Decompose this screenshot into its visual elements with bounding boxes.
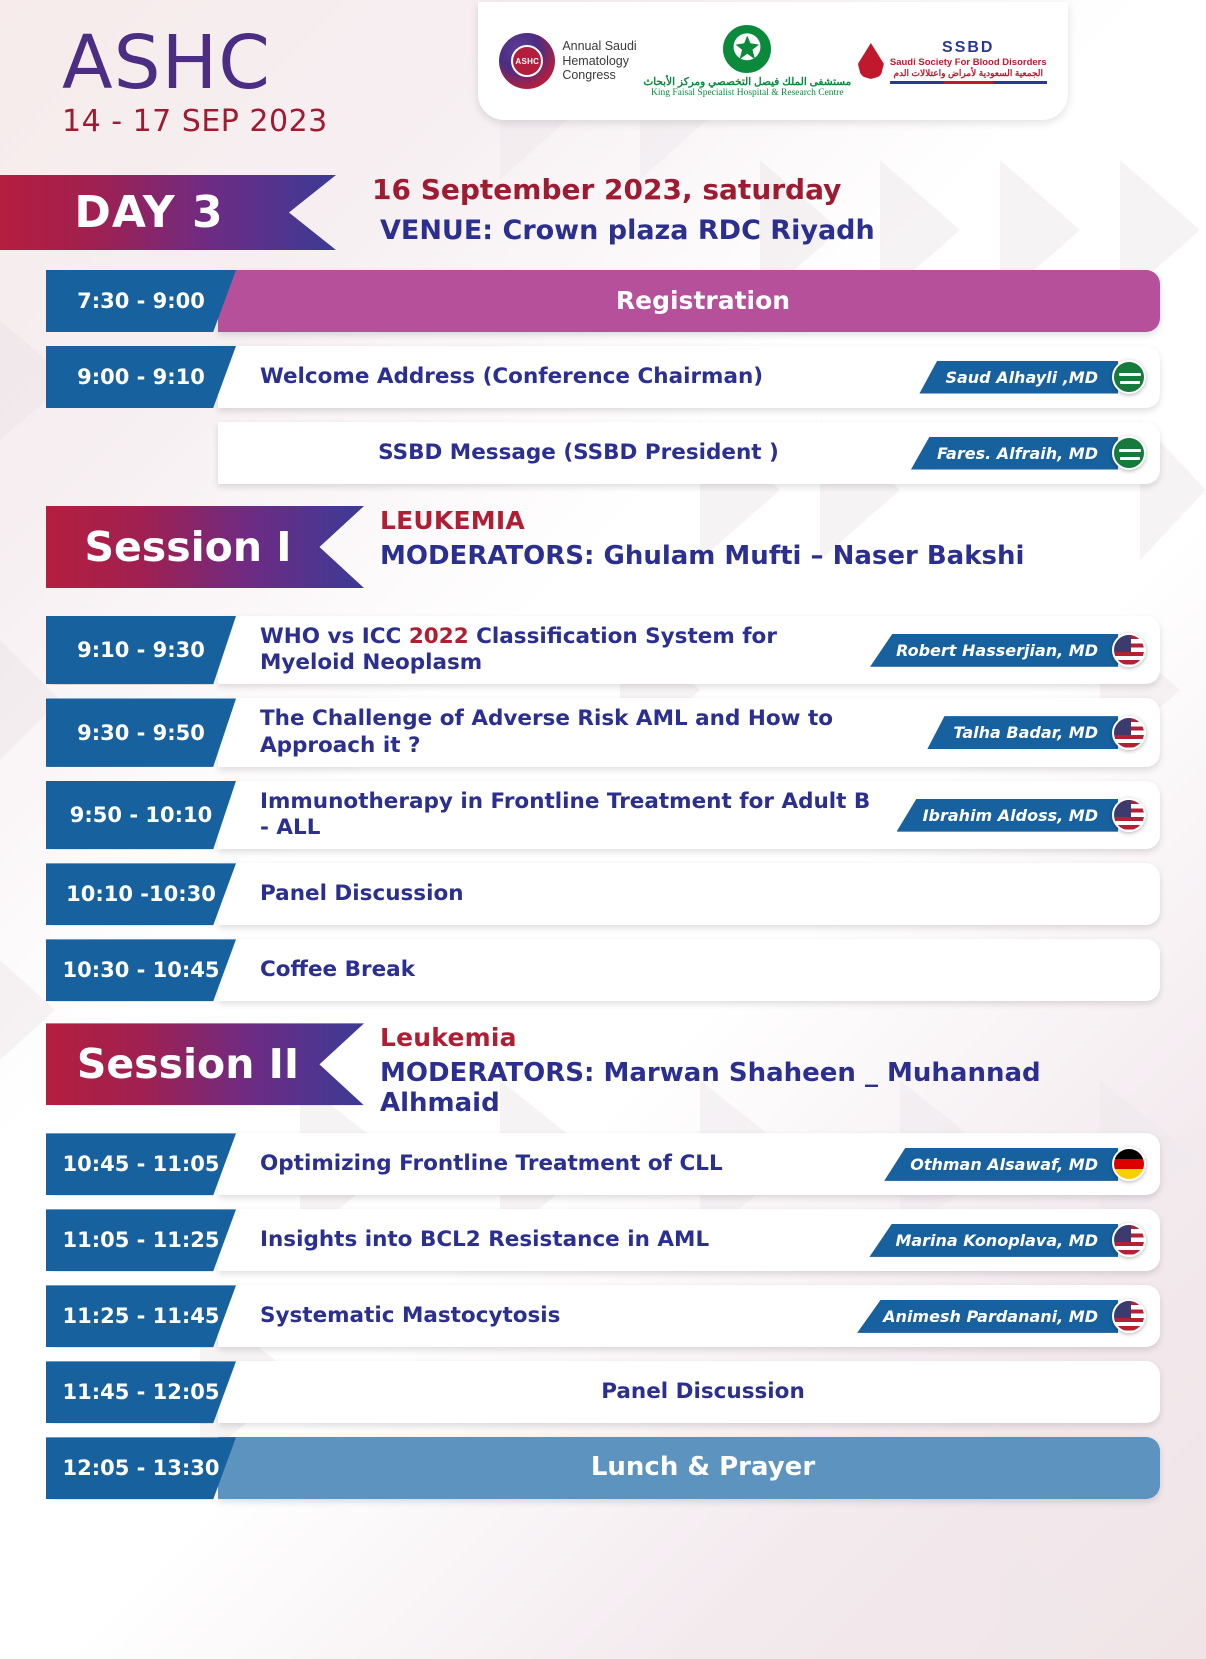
agenda-row-body: WHO vs ICC 2022 Classification System fo…: [218, 616, 1160, 684]
session-label: Session I: [84, 523, 325, 571]
session-banner: Session I: [46, 506, 364, 588]
agenda-row-time: 11:05 - 11:25: [46, 1209, 236, 1271]
ashc-logo: ASHC Annual SaudiHematologyCongress: [499, 33, 636, 89]
agenda-row-title: Immunotherapy in Frontline Treatment for…: [260, 789, 883, 841]
usa-flag: [1112, 716, 1146, 750]
agenda-row: 9:30 - 9:50The Challenge of Adverse Risk…: [46, 698, 1160, 766]
title-highlight-year: 2022: [409, 624, 469, 649]
agenda-row-title: SSBD Message (SSBD President ): [260, 440, 897, 466]
ssbd-logo-acronym: SSBD: [890, 39, 1047, 57]
agenda-row-title: Optimizing Frontline Treatment of CLL: [260, 1151, 870, 1177]
agenda-body: 7:30 - 9:00Registration9:00 - 9:10Welcom…: [0, 270, 1206, 1499]
speaker-badge: Saud Alhayli ,MD: [919, 360, 1146, 394]
blood-drop-icon: [858, 43, 884, 79]
speaker-badge: Animesh Pardanani, MD: [857, 1299, 1146, 1333]
agenda-row-body: Optimizing Frontline Treatment of CLLOth…: [218, 1133, 1160, 1195]
speaker-badge: Talha Badar, MD: [927, 716, 1146, 750]
agenda-row-body: Registration: [218, 270, 1160, 332]
agenda-row: 11:05 - 11:25Insights into BCL2 Resistan…: [46, 1209, 1160, 1271]
agenda-row-body: Welcome Address (Conference Chairman)Sau…: [218, 346, 1160, 408]
agenda-row: 10:30 - 10:45Coffee Break: [46, 939, 1160, 1001]
agenda-row-body: Lunch & Prayer: [218, 1437, 1160, 1499]
usa-flag: [1112, 798, 1146, 832]
day-venue: VENUE: Crown plaza RDC Riyadh: [372, 215, 875, 246]
agenda-row-time: 10:45 - 11:05: [46, 1133, 236, 1195]
day-label: DAY 3: [74, 187, 261, 238]
speaker-name: Marina Konoplava, MD: [869, 1224, 1118, 1257]
speaker-badge: Robert Hasserjian, MD: [870, 633, 1146, 667]
usa-flag: [1112, 633, 1146, 667]
session-topic: Leukemia: [380, 1023, 1160, 1052]
germany-flag: [1112, 1147, 1146, 1181]
title-text-part: WHO vs ICC: [260, 624, 409, 649]
agenda-row-title: Systematic Mastocytosis: [260, 1303, 843, 1329]
agenda-row-title: Registration: [260, 286, 1146, 317]
ssbd-logo-text: SSBD Saudi Society For Blood Disorders ا…: [890, 39, 1047, 84]
session-header: Session ILEUKEMIAMODERATORS: Ghulam Muft…: [46, 498, 1160, 602]
speaker-badge: Othman Alsawaf, MD: [884, 1147, 1146, 1181]
day-banner: DAY 3: [0, 175, 336, 250]
agenda-row-title: Panel Discussion: [260, 881, 1146, 907]
speaker-name: Talha Badar, MD: [927, 716, 1118, 749]
agenda-row-time: 11:45 - 12:05: [46, 1361, 236, 1423]
session-meta: LeukemiaMODERATORS: Marwan Shaheen _ Muh…: [380, 1023, 1160, 1118]
sponsor-logo-bar: ASHC Annual SaudiHematologyCongress مستش…: [478, 2, 1068, 120]
speaker-name: Othman Alsawaf, MD: [884, 1148, 1118, 1181]
agenda-row-time: 9:10 - 9:30: [46, 616, 236, 684]
ashc-logo-icon: ASHC: [499, 33, 555, 89]
agenda-row-body: Panel Discussion: [218, 1361, 1160, 1423]
agenda-row-title: Insights into BCL2 Resistance in AML: [260, 1227, 855, 1253]
session-moderators: MODERATORS: Marwan Shaheen _ Muhannad Al…: [380, 1058, 1160, 1118]
brand-block: ASHC 14 - 17 SEP 2023: [62, 28, 328, 139]
session-label: Session II: [77, 1040, 333, 1088]
agenda-row: 12:05 - 13:30Lunch & Prayer: [46, 1437, 1160, 1499]
agenda-row: 10:10 -10:30Panel Discussion: [46, 863, 1160, 925]
agenda-row-time: 7:30 - 9:00: [46, 270, 236, 332]
agenda-row-title: The Challenge of Adverse Risk AML and Ho…: [260, 706, 913, 758]
ashc-logo-mark-text: ASHC: [515, 57, 539, 66]
ssbd-logo: SSBD Saudi Society For Blood Disorders ا…: [858, 39, 1047, 84]
brand-acronym: ASHC: [62, 28, 328, 98]
agenda-row-title: Welcome Address (Conference Chairman): [260, 364, 905, 390]
agenda-row-title: Coffee Break: [260, 957, 1146, 983]
speaker-badge: Ibrahim Aldoss, MD: [897, 798, 1146, 832]
agenda-row: SSBD Message (SSBD President )Fares. Alf…: [46, 422, 1160, 484]
session-meta: LEUKEMIAMODERATORS: Ghulam Mufti – Naser…: [380, 506, 1024, 571]
day-banner-row: DAY 3 16 September 2023, saturday VENUE:…: [0, 175, 1206, 270]
session-banner: Session II: [46, 1023, 364, 1105]
agenda-row-body: Panel Discussion: [218, 863, 1160, 925]
speaker-name: Fares. Alfraih, MD: [911, 437, 1118, 470]
session-moderators: MODERATORS: Ghulam Mufti – Naser Bakshi: [380, 541, 1024, 571]
day-meta: 16 September 2023, saturday VENUE: Crown…: [372, 173, 875, 246]
speaker-badge: Fares. Alfraih, MD: [911, 436, 1146, 470]
ashc-logo-name: Annual SaudiHematologyCongress: [562, 39, 636, 83]
ssbd-logo-arabic: الجمعية السعودية لأمراض واعتلالات الدم: [890, 68, 1047, 79]
session-header: Session IILeukemiaMODERATORS: Marwan Sha…: [46, 1015, 1160, 1119]
agenda-row-body: Coffee Break: [218, 939, 1160, 1001]
saudi-arabia-flag: [1112, 436, 1146, 470]
ssbd-logo-rule: [890, 81, 1047, 84]
agenda-row-time: 10:30 - 10:45: [46, 939, 236, 1001]
agenda-row: 11:45 - 12:05Panel Discussion: [46, 1361, 1160, 1423]
kfshrc-logo-arabic: مستشفى الملك فيصل التخصصي ومركز الأبحاث: [643, 76, 851, 88]
speaker-name: Robert Hasserjian, MD: [870, 634, 1118, 667]
speaker-name: Animesh Pardanani, MD: [857, 1300, 1118, 1333]
speaker-name: Saud Alhayli ,MD: [919, 361, 1118, 394]
brand-dates: 14 - 17 SEP 2023: [62, 104, 328, 139]
agenda-row-body: Immunotherapy in Frontline Treatment for…: [218, 781, 1160, 849]
ssbd-logo-english: Saudi Society For Blood Disorders: [890, 57, 1047, 68]
palm-and-swords-icon: [723, 25, 771, 73]
poster-header: ASHC 14 - 17 SEP 2023 ASHC Annual SaudiH…: [0, 0, 1206, 175]
agenda-row-time: 10:10 -10:30: [46, 863, 236, 925]
agenda-poster: ASHC 14 - 17 SEP 2023 ASHC Annual SaudiH…: [0, 0, 1206, 1659]
agenda-row-body: The Challenge of Adverse Risk AML and Ho…: [218, 698, 1160, 766]
day-date: 16 September 2023, saturday: [372, 173, 875, 206]
agenda-row: 7:30 - 9:00Registration: [46, 270, 1160, 332]
agenda-row-title: Lunch & Prayer: [260, 1452, 1146, 1484]
agenda-row-time: 9:30 - 9:50: [46, 698, 236, 766]
agenda-row: 9:00 - 9:10Welcome Address (Conference C…: [46, 346, 1160, 408]
agenda-row-body: Systematic MastocytosisAnimesh Pardanani…: [218, 1285, 1160, 1347]
agenda-row-title: Panel Discussion: [260, 1379, 1146, 1405]
agenda-row-time: 11:25 - 11:45: [46, 1285, 236, 1347]
agenda-row: 9:50 - 10:10Immunotherapy in Frontline T…: [46, 781, 1160, 849]
speaker-name: Ibrahim Aldoss, MD: [897, 799, 1118, 832]
session-topic: LEUKEMIA: [380, 506, 1024, 535]
agenda-row-time: 9:50 - 10:10: [46, 781, 236, 849]
usa-flag: [1112, 1223, 1146, 1257]
agenda-row-body: SSBD Message (SSBD President )Fares. Alf…: [218, 422, 1160, 484]
speaker-badge: Marina Konoplava, MD: [869, 1223, 1146, 1257]
usa-flag: [1112, 1299, 1146, 1333]
agenda-row-time: 9:00 - 9:10: [46, 346, 236, 408]
kfshrc-logo-english: King Faisal Specialist Hospital & Resear…: [643, 88, 851, 98]
kfshrc-logo: مستشفى الملك فيصل التخصصي ومركز الأبحاث …: [643, 25, 851, 98]
agenda-row-title: WHO vs ICC 2022 Classification System fo…: [260, 624, 856, 676]
agenda-row: 10:45 - 11:05Optimizing Frontline Treatm…: [46, 1133, 1160, 1195]
agenda-row: 9:10 - 9:30WHO vs ICC 2022 Classificatio…: [46, 616, 1160, 684]
agenda-row-body: Insights into BCL2 Resistance in AMLMari…: [218, 1209, 1160, 1271]
agenda-row: 11:25 - 11:45Systematic MastocytosisAnim…: [46, 1285, 1160, 1347]
agenda-row-time: 12:05 - 13:30: [46, 1437, 236, 1499]
saudi-arabia-flag: [1112, 360, 1146, 394]
